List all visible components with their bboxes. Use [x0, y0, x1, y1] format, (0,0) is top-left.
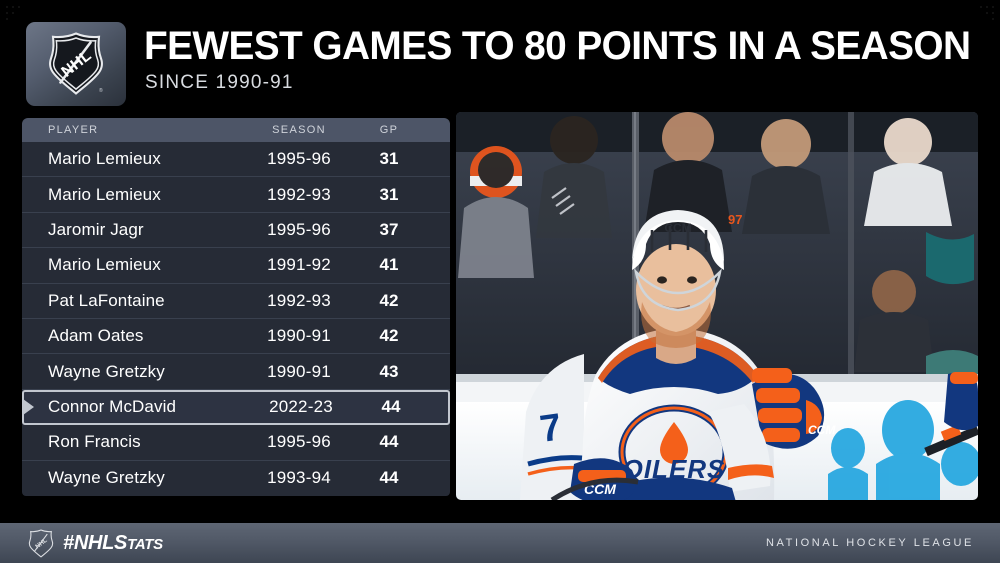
corner-marker-top-left: [6, 6, 28, 22]
cell-gp: 42: [354, 291, 424, 311]
hashtag-nhl: #NHL: [63, 532, 114, 555]
column-header-player: PLAYER: [22, 124, 244, 136]
cell-gp: 31: [354, 185, 424, 205]
cell-season: 1990-91: [244, 326, 354, 346]
column-header-gp: GP: [354, 124, 424, 136]
table-row[interactable]: Wayne Gretzky1990-9143: [22, 354, 450, 389]
table-row[interactable]: Wayne Gretzky1993-9444: [22, 461, 450, 496]
cell-season: 1995-96: [244, 149, 354, 169]
stats-table: PLAYER SEASON GP Mario Lemieux1995-9631M…: [22, 118, 450, 496]
table-header-row: PLAYER SEASON GP: [22, 118, 450, 142]
nhl-shield-icon: NHL ®: [47, 32, 105, 96]
table-row[interactable]: Mario Lemieux1995-9631: [22, 142, 450, 177]
table-body: Mario Lemieux1995-9631Mario Lemieux1992-…: [22, 142, 450, 496]
league-name: NATIONAL HOCKEY LEAGUE: [766, 537, 974, 549]
cell-player: Wayne Gretzky: [22, 468, 244, 488]
cell-gp: 44: [354, 432, 424, 452]
page-subtitle: SINCE 1990-91: [145, 72, 294, 94]
svg-text:®: ®: [99, 87, 103, 94]
cell-gp: 43: [354, 362, 424, 382]
cell-player: Pat LaFontaine: [22, 291, 244, 311]
table-row-highlighted[interactable]: Connor McDavid2022-2344: [22, 390, 450, 425]
corner-marker-top-right: [972, 6, 994, 22]
svg-text:CCM: CCM: [808, 423, 836, 437]
nhl-shield-icon: NHL: [28, 529, 54, 558]
cell-player: Connor McDavid: [24, 397, 246, 417]
cell-player: Adam Oates: [22, 326, 244, 346]
cell-season: 1993-94: [244, 468, 354, 488]
hashtag-s: S: [114, 532, 127, 555]
cell-gp: 44: [356, 397, 426, 417]
cell-gp: 31: [354, 149, 424, 169]
page-title: FEWEST GAMES TO 80 POINTS IN A SEASON: [144, 26, 969, 66]
table-row[interactable]: Ron Francis1995-9644: [22, 425, 450, 460]
cell-player: Ron Francis: [22, 432, 244, 452]
cell-gp: 41: [354, 255, 424, 275]
table-row[interactable]: Pat LaFontaine1992-9342: [22, 284, 450, 319]
cell-player: Mario Lemieux: [22, 149, 244, 169]
cell-gp: 44: [354, 468, 424, 488]
cell-season: 1995-96: [244, 220, 354, 240]
nhl-logo-badge: NHL ®: [26, 22, 126, 106]
cell-player: Mario Lemieux: [22, 255, 244, 275]
svg-text:97: 97: [728, 212, 742, 227]
table-row[interactable]: Mario Lemieux1992-9331: [22, 177, 450, 212]
nhlstats-hashtag: #NHL S TATS: [63, 532, 163, 555]
cell-player: Wayne Gretzky: [22, 362, 244, 382]
cell-season: 1995-96: [244, 432, 354, 452]
hashtag-tats: TATS: [127, 536, 163, 553]
column-header-season: SEASON: [244, 124, 354, 136]
row-marker-arrow-icon: [23, 399, 34, 415]
photo-illustration: 7 OILERS: [456, 112, 978, 500]
cell-gp: 42: [354, 326, 424, 346]
table-row[interactable]: Adam Oates1990-9142: [22, 319, 450, 354]
cell-gp: 37: [354, 220, 424, 240]
graphic-root: NHL ® FEWEST GAMES TO 80 POINTS IN A SEA…: [0, 0, 1000, 563]
cell-season: 1992-93: [244, 185, 354, 205]
cell-player: Jaromir Jagr: [22, 220, 244, 240]
svg-text:NHL: NHL: [34, 536, 49, 550]
cell-player: Mario Lemieux: [22, 185, 244, 205]
table-row[interactable]: Mario Lemieux1991-9241: [22, 248, 450, 283]
svg-text:CCM: CCM: [664, 221, 691, 235]
player-photo: 7 OILERS: [456, 112, 978, 500]
cell-season: 2022-23: [246, 397, 356, 417]
cell-season: 1990-91: [244, 362, 354, 382]
cell-season: 1991-92: [244, 255, 354, 275]
table-row[interactable]: Jaromir Jagr1995-9637: [22, 213, 450, 248]
footer-bar: NHL #NHL S TATS NATIONAL HOCKEY LEAGUE: [0, 523, 1000, 563]
cell-season: 1992-93: [244, 291, 354, 311]
